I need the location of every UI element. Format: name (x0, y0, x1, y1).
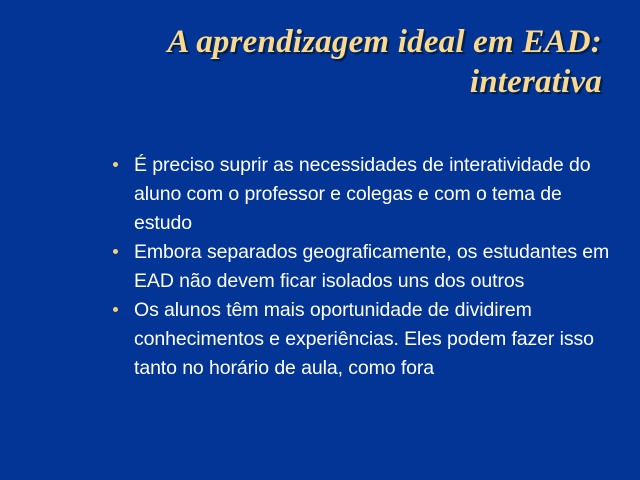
bullet-item-text: É preciso suprir as necessidades de inte… (134, 151, 612, 238)
bullet-list-item: É preciso suprir as necessidades de inte… (112, 151, 612, 238)
bullet-item-text: Embora separados geograficamente, os est… (134, 238, 612, 296)
slide-title-line-1: A aprendizagem ideal em EAD: (40, 22, 602, 62)
bullet-list-item: Os alunos têm mais oportunidade de divid… (112, 296, 612, 383)
bullet-dot-icon (113, 249, 118, 254)
slide-title-line-2: interativa (40, 62, 602, 102)
bullet-item-text: Os alunos têm mais oportunidade de divid… (134, 296, 612, 383)
bullet-list-item: Embora separados geograficamente, os est… (112, 238, 612, 296)
bullet-dot-icon (113, 307, 118, 312)
bullet-dot-icon (113, 162, 118, 167)
slide-title: A aprendizagem ideal em EAD: interativa (40, 22, 602, 102)
presentation-slide: A aprendizagem ideal em EAD: interativa … (0, 0, 640, 480)
slide-body: É preciso suprir as necessidades de inte… (112, 151, 612, 383)
